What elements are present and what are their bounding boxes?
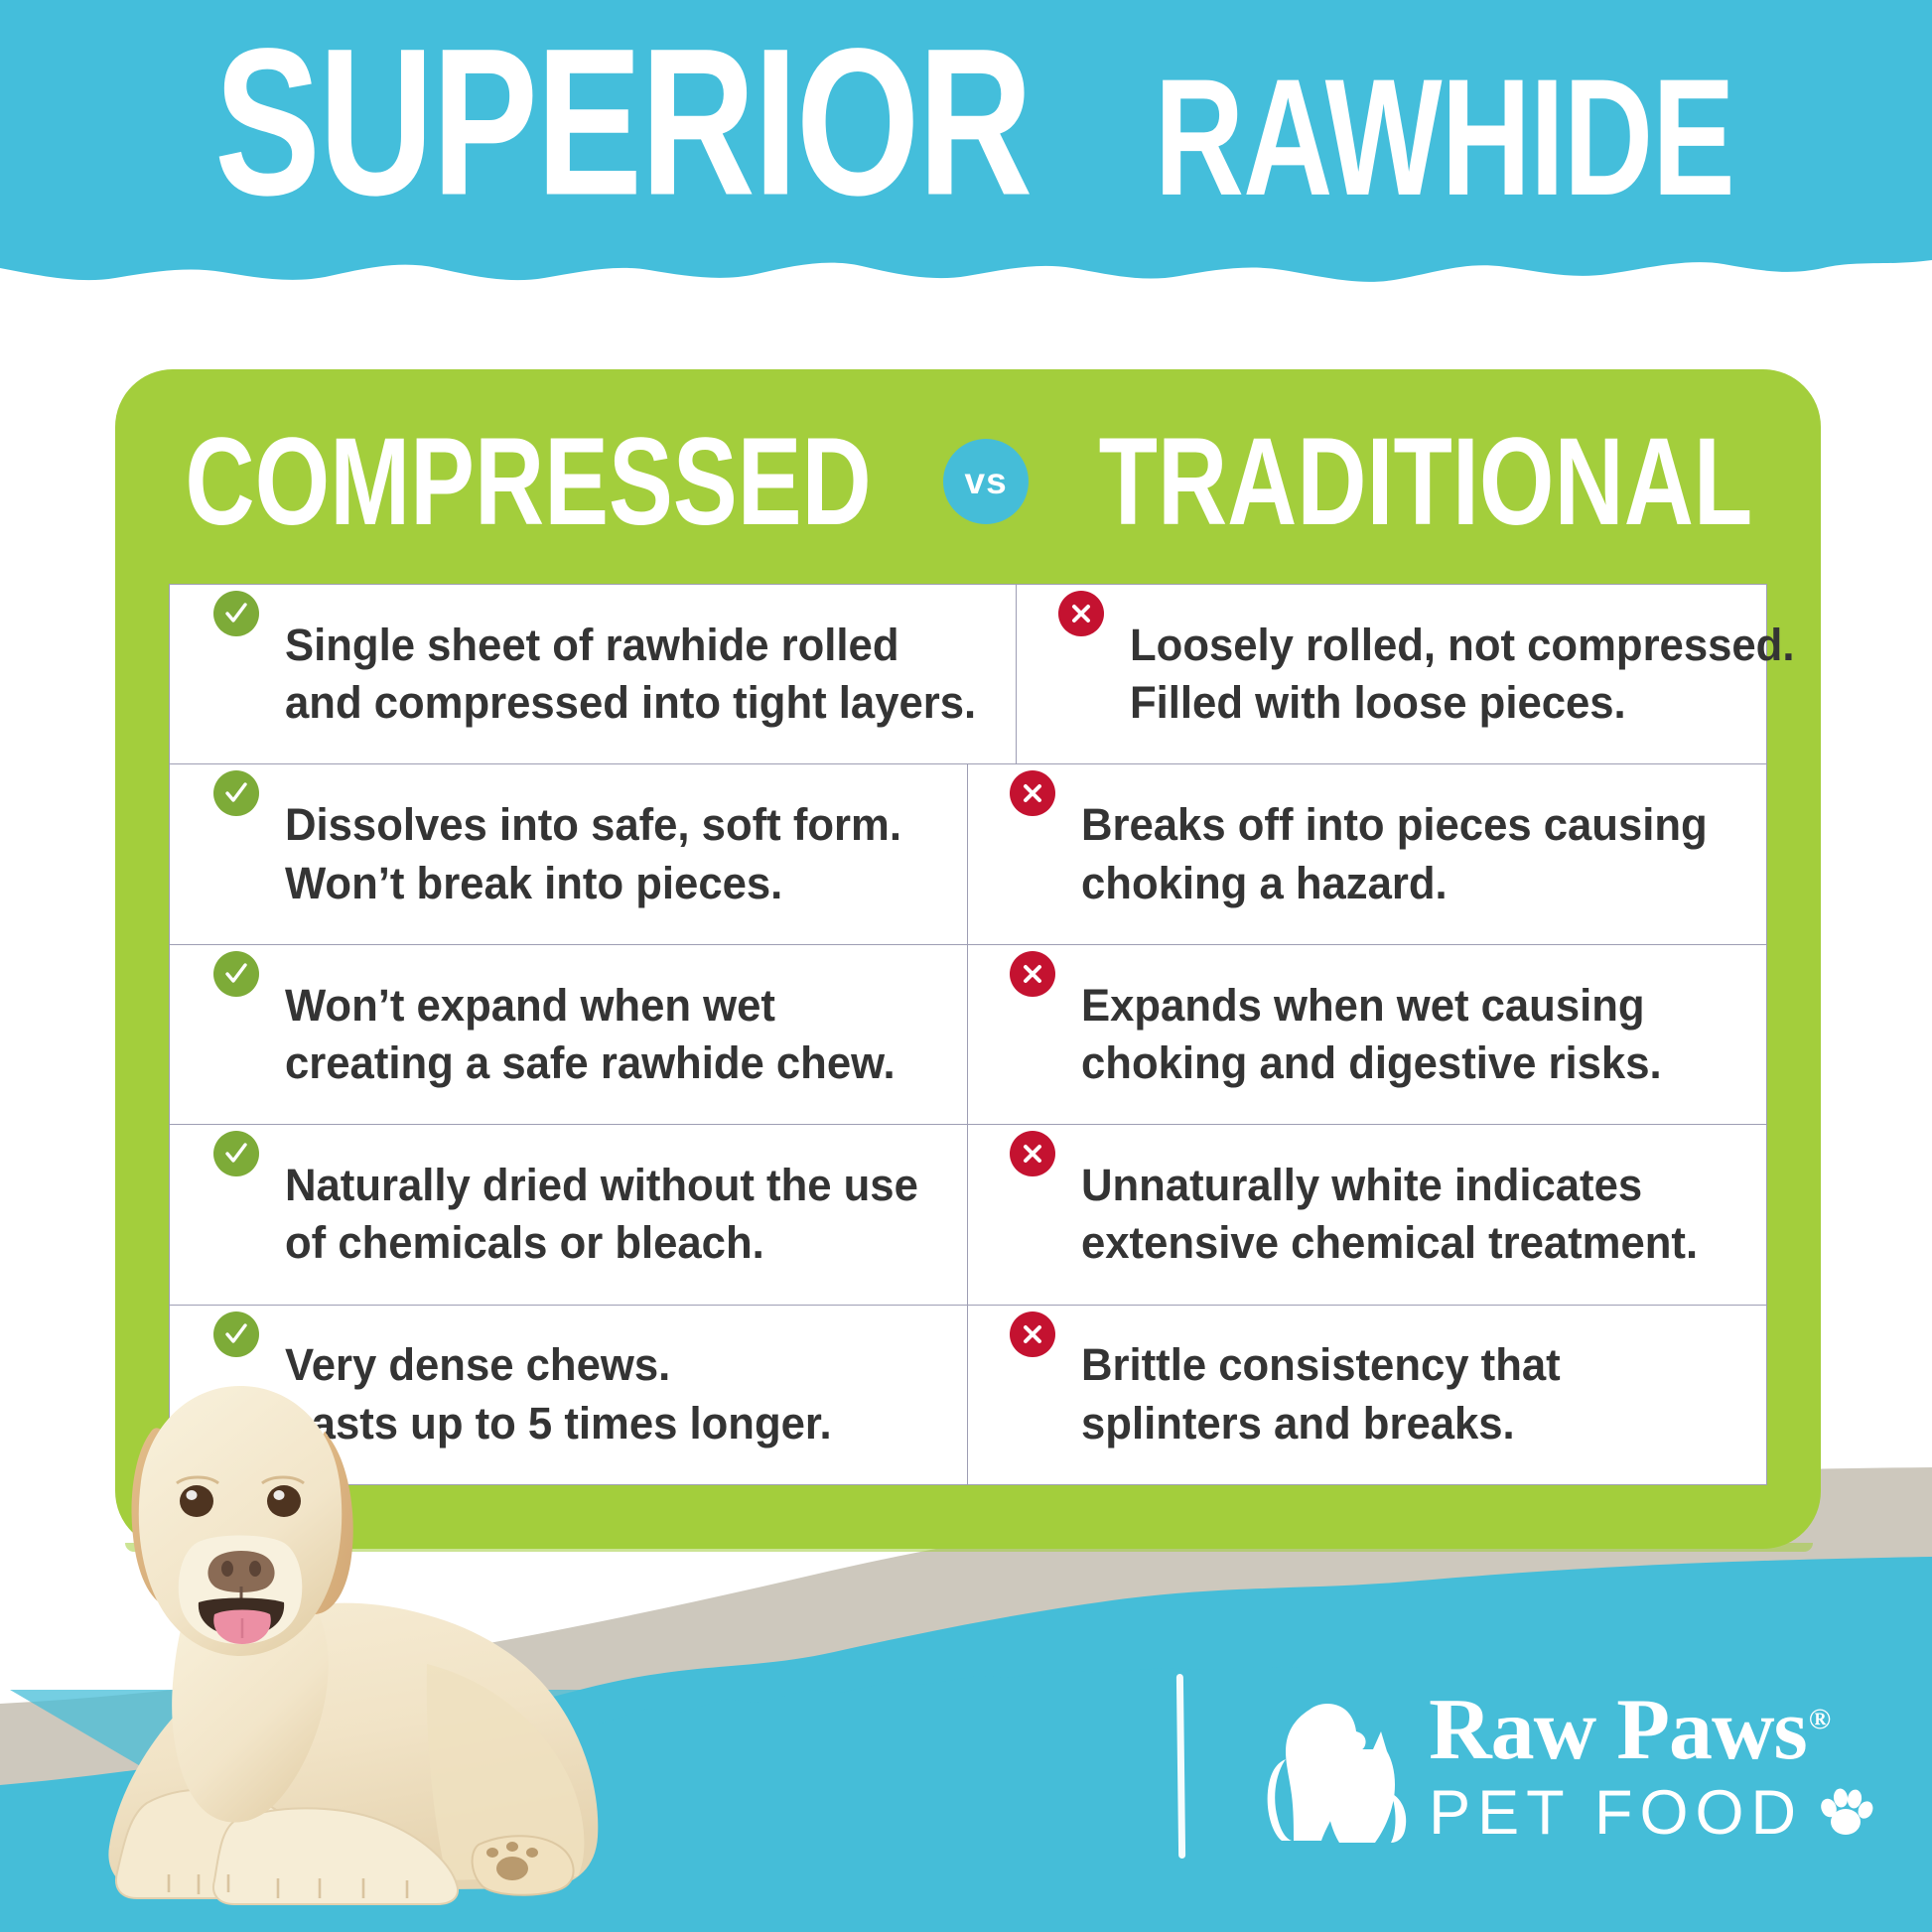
- logo-tagline-row: PET FOOD: [1429, 1780, 1874, 1846]
- cross-icon: [1010, 770, 1055, 816]
- cell-line-2: extensive chemical treatment.: [1081, 1214, 1698, 1273]
- cell-line-2: Filled with loose pieces.: [1130, 674, 1794, 733]
- cell-line-2: choking a hazard.: [1081, 855, 1708, 913]
- vs-label: vs: [965, 461, 1008, 502]
- cell-line-1: Brittle consistency that: [1081, 1336, 1561, 1395]
- cell-text: Brittle consistency that splinters and b…: [1081, 1336, 1561, 1452]
- check-icon: [213, 1131, 259, 1176]
- table-row: Won’t expand when wet creating a safe ra…: [170, 945, 1766, 1125]
- cell-line-1: Expands when wet causing: [1081, 977, 1662, 1035]
- cell-compressed: Naturally dried without the use of chemi…: [170, 1125, 968, 1304]
- cell-line-2: Won’t break into pieces.: [285, 855, 901, 913]
- cell-line-1: Single sheet of rawhide rolled: [285, 617, 976, 675]
- registered-mark-icon: ®: [1809, 1703, 1830, 1735]
- cross-icon: [1010, 951, 1055, 997]
- column-header-compressed: COMPRESSED: [185, 419, 871, 543]
- logo-name: Raw Paws®: [1429, 1687, 1874, 1774]
- check-icon: [213, 591, 259, 636]
- cell-traditional: Loosely rolled, not compressed. Filled w…: [1017, 585, 1833, 763]
- cell-text: Naturally dried without the use of chemi…: [285, 1157, 918, 1273]
- cross-icon: [1010, 1131, 1055, 1176]
- column-header-traditional: TRADITIONAL: [1099, 419, 1753, 543]
- cell-compressed: Single sheet of rawhide rolled and compr…: [170, 585, 1017, 763]
- cell-compressed: Won’t expand when wet creating a safe ra…: [170, 945, 968, 1124]
- cell-traditional: Expands when wet causing choking and dig…: [968, 945, 1766, 1124]
- logo-tagline: PET FOOD: [1429, 1780, 1803, 1846]
- cell-text: Loosely rolled, not compressed. Filled w…: [1130, 617, 1794, 733]
- cell-line-2: choking and digestive risks.: [1081, 1035, 1662, 1093]
- check-icon: [213, 951, 259, 997]
- table-row: Single sheet of rawhide rolled and compr…: [170, 585, 1766, 764]
- cross-icon: [1010, 1311, 1055, 1357]
- cell-line-1: Loosely rolled, not compressed.: [1130, 617, 1794, 675]
- paw-print-icon: [1817, 1784, 1874, 1842]
- card-header: COMPRESSED vs TRADITIONAL: [115, 421, 1821, 542]
- cell-line-2: creating a safe rawhide chew.: [285, 1035, 896, 1093]
- table-row: Dissolves into safe, soft form. Won’t br…: [170, 764, 1766, 944]
- cell-text: Expands when wet causing choking and dig…: [1081, 977, 1662, 1093]
- cell-line-1: Dissolves into safe, soft form.: [285, 796, 901, 855]
- cell-traditional: Unnaturally white indicates extensive ch…: [968, 1125, 1766, 1304]
- page-title: SUPERIORRAWHIDE: [0, 46, 1932, 226]
- cross-icon: [1058, 591, 1104, 636]
- check-icon: [213, 770, 259, 816]
- cell-text: Breaks off into pieces causing choking a…: [1081, 796, 1708, 912]
- cell-compressed: Dissolves into safe, soft form. Won’t br…: [170, 764, 968, 943]
- cell-line-1: Breaks off into pieces causing: [1081, 796, 1708, 855]
- logo-divider: [1176, 1674, 1185, 1859]
- table-row: Naturally dried without the use of chemi…: [170, 1125, 1766, 1305]
- logo-wordmark: Raw Paws® PET FOOD: [1429, 1687, 1874, 1846]
- cell-line-1: Unnaturally white indicates: [1081, 1157, 1698, 1215]
- dog-photo: [30, 1336, 745, 1932]
- cell-text: Unnaturally white indicates extensive ch…: [1081, 1157, 1698, 1273]
- cell-text: Won’t expand when wet creating a safe ra…: [285, 977, 896, 1093]
- cell-traditional: Brittle consistency that splinters and b…: [968, 1306, 1766, 1484]
- cell-line-1: Naturally dried without the use: [285, 1157, 918, 1215]
- cell-text: Dissolves into safe, soft form. Won’t br…: [285, 796, 901, 912]
- cell-line-2: splinters and breaks.: [1081, 1395, 1561, 1453]
- title-main: SUPERIOR: [214, 17, 1031, 226]
- title-sub: RAWHIDE: [1154, 55, 1733, 221]
- brand-logo: Raw Paws® PET FOOD: [1177, 1662, 1874, 1870]
- vs-badge: vs: [943, 439, 1029, 524]
- logo-name-text: Raw Paws: [1429, 1682, 1807, 1778]
- dog-cat-logo-icon: [1264, 1682, 1413, 1851]
- infographic-page: SUPERIORRAWHIDE COMPRESSED vs TRADITIONA…: [0, 0, 1932, 1932]
- cell-line-1: Won’t expand when wet: [285, 977, 896, 1035]
- cell-text: Single sheet of rawhide rolled and compr…: [285, 617, 976, 733]
- cell-line-2: of chemicals or bleach.: [285, 1214, 918, 1273]
- cell-traditional: Breaks off into pieces causing choking a…: [968, 764, 1766, 943]
- cell-line-2: and compressed into tight layers.: [285, 674, 976, 733]
